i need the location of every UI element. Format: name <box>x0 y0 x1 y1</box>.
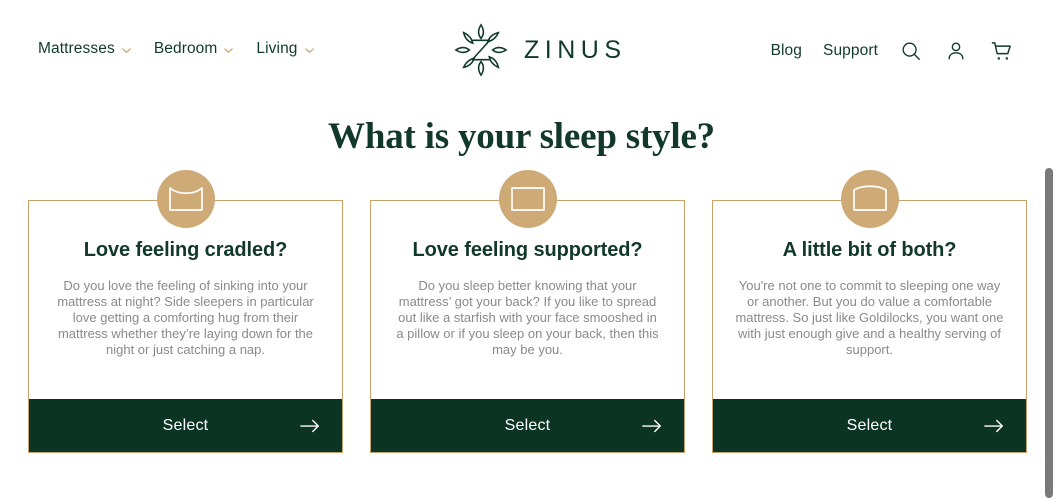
nav-item-label: Mattresses <box>38 40 115 58</box>
nav-item-label: Bedroom <box>154 40 218 58</box>
select-button-label: Select <box>847 417 893 435</box>
chevron-down-icon <box>121 45 132 56</box>
sleep-style-card[interactable]: A little bit of both? You're not one to … <box>712 200 1027 453</box>
search-icon[interactable] <box>899 39 923 63</box>
card-body: Love feeling supported? Do you sleep bet… <box>371 201 684 399</box>
chevron-down-icon <box>304 45 315 56</box>
sleep-style-card-list: Love feeling cradled? Do you love the fe… <box>28 200 1027 453</box>
card-body: Love feeling cradled? Do you love the fe… <box>29 201 342 399</box>
select-button-label: Select <box>505 417 551 435</box>
nav-link-support[interactable]: Support <box>823 42 878 60</box>
site-header: Mattresses Bedroom Living <box>0 0 1043 98</box>
card-description: You're not one to commit to sleeping one… <box>735 278 1004 358</box>
page-title: What is your sleep style? <box>0 115 1043 158</box>
sleep-style-card[interactable]: Love feeling supported? Do you sleep bet… <box>370 200 685 453</box>
mattress-both-icon <box>841 170 899 228</box>
arrow-right-icon <box>641 418 663 434</box>
select-button[interactable]: Select <box>371 399 684 452</box>
nav-item-label: Living <box>256 40 297 58</box>
cart-icon[interactable] <box>989 39 1013 63</box>
select-button[interactable]: Select <box>29 399 342 452</box>
scrollbar-thumb[interactable] <box>1045 168 1053 498</box>
mattress-supported-icon <box>499 170 557 228</box>
card-description: Do you love the feeling of sinking into … <box>51 278 320 358</box>
logo-wordmark: ZINUS <box>524 36 627 65</box>
site-logo[interactable]: ZINUS <box>452 21 627 79</box>
chevron-down-icon <box>223 45 234 56</box>
nav-item-living[interactable]: Living <box>256 40 314 58</box>
arrow-right-icon <box>299 418 321 434</box>
sleep-style-card[interactable]: Love feeling cradled? Do you love the fe… <box>28 200 343 453</box>
zinus-leaf-logo-icon <box>452 21 510 79</box>
mattress-cradled-icon <box>157 170 215 228</box>
select-button-label: Select <box>163 417 209 435</box>
secondary-navigation: Blog Support <box>771 39 1013 63</box>
card-heading: Love feeling supported? <box>393 239 662 262</box>
arrow-right-icon <box>983 418 1005 434</box>
card-heading: Love feeling cradled? <box>51 239 320 262</box>
select-button[interactable]: Select <box>713 399 1026 452</box>
nav-link-blog[interactable]: Blog <box>771 42 802 60</box>
card-body: A little bit of both? You're not one to … <box>713 201 1026 399</box>
card-description: Do you sleep better knowing that your ma… <box>393 278 662 358</box>
primary-navigation: Mattresses Bedroom Living <box>38 40 315 58</box>
account-icon[interactable] <box>944 39 968 63</box>
card-heading: A little bit of both? <box>735 239 1004 262</box>
vertical-scrollbar[interactable] <box>1043 0 1055 499</box>
nav-item-bedroom[interactable]: Bedroom <box>154 40 235 58</box>
nav-item-mattresses[interactable]: Mattresses <box>38 40 132 58</box>
